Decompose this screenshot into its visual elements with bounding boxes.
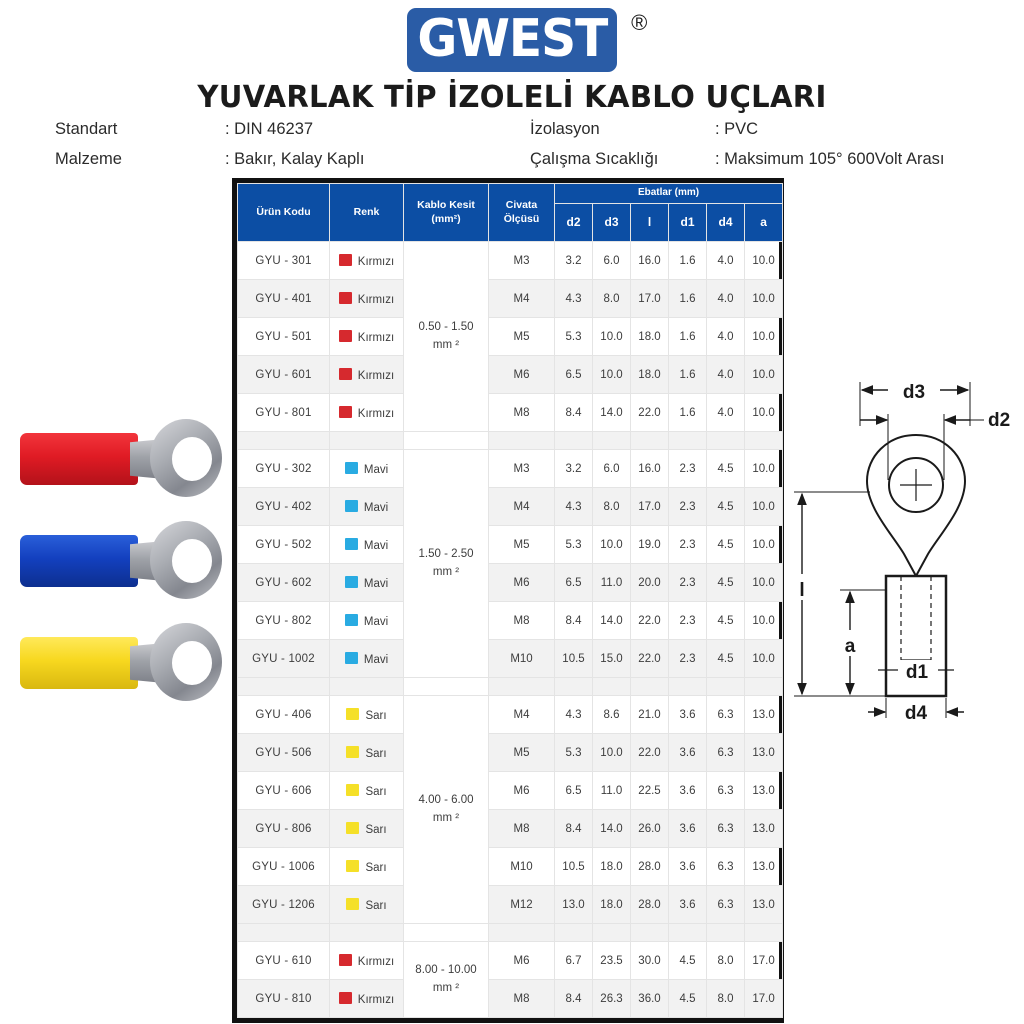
- cell-d3: 11.0: [593, 772, 631, 810]
- color-swatch-icon: [346, 860, 359, 872]
- cell-urun-kodu: GYU - 402: [238, 488, 330, 526]
- table-row[interactable]: GYU - 301Kırmızı0.50 - 1.50mm ²M33.26.01…: [238, 242, 783, 280]
- cell-d2: 10.5: [555, 640, 593, 678]
- insulation-sleeve: [20, 637, 138, 689]
- spec-label-standart: Standart: [55, 120, 225, 139]
- cell-d4: 8.0: [707, 942, 745, 980]
- cell-d2: 5.3: [555, 318, 593, 356]
- cell-renk: Sarı: [330, 886, 404, 924]
- cell-renk-label: Sarı: [365, 824, 386, 836]
- cell-d2: 6.7: [555, 942, 593, 980]
- cell-renk-label: Sarı: [365, 786, 386, 798]
- logo-box: GWEST ®: [407, 8, 618, 72]
- cell-renk: Sarı: [330, 696, 404, 734]
- column-header-d2: d2: [555, 204, 593, 242]
- cell-kablo-kesit: 8.00 - 10.00mm ²: [404, 942, 489, 1018]
- civata-line2: Ölçüsü: [504, 213, 540, 225]
- cell-renk: Mavi: [330, 602, 404, 640]
- color-swatch-icon: [346, 784, 359, 796]
- cell-urun-kodu: GYU - 506: [238, 734, 330, 772]
- spec-value-sicaklik: : Maksimum 105° 600Volt Arası: [715, 150, 1010, 169]
- table-row[interactable]: GYU - 806SarıM88.414.026.03.66.313.0: [238, 810, 783, 848]
- blue-ring-terminal: [12, 517, 227, 605]
- insulation-sleeve: [20, 535, 138, 587]
- stud-hole: [172, 641, 212, 685]
- cell-d4: 4.5: [707, 640, 745, 678]
- cell-urun-kodu: GYU - 610: [238, 942, 330, 980]
- cell-d4: 4.0: [707, 242, 745, 280]
- cell-renk: Sarı: [330, 848, 404, 886]
- cell-civata: M6: [489, 942, 555, 980]
- cell-urun-kodu: GYU - 301: [238, 242, 330, 280]
- cell-civata: M8: [489, 394, 555, 432]
- cell-d4: 4.5: [707, 450, 745, 488]
- cell-civata: M10: [489, 640, 555, 678]
- page-title: YUVARLAK TİP İZOLELİ KABLO UÇLARI: [15, 80, 1008, 115]
- cell-d2: 13.0: [555, 886, 593, 924]
- cell-d3: 6.0: [593, 242, 631, 280]
- cell-d2: 4.3: [555, 280, 593, 318]
- cell-civata: M8: [489, 810, 555, 848]
- color-swatch-icon: [339, 330, 352, 342]
- cell-a: 13.0: [745, 810, 783, 848]
- cell-d2: 8.4: [555, 394, 593, 432]
- cell-civata: M10: [489, 848, 555, 886]
- cell-d2: 10.5: [555, 848, 593, 886]
- cell-renk: Mavi: [330, 488, 404, 526]
- cell-renk-label: Mavi: [364, 654, 388, 666]
- cell-renk-label: Sarı: [365, 862, 386, 874]
- cell-renk-label: Mavi: [364, 578, 388, 590]
- spec-label-malzeme: Malzeme: [55, 150, 225, 169]
- cell-a: 10.0: [745, 488, 783, 526]
- cell-renk: Kırmızı: [330, 242, 404, 280]
- color-swatch-icon: [339, 992, 352, 1004]
- cell-d4: 6.3: [707, 696, 745, 734]
- cell-d2: 4.3: [555, 488, 593, 526]
- cell-l: 30.0: [631, 942, 669, 980]
- group-spacer-row: [238, 924, 783, 942]
- cell-d4: 6.3: [707, 886, 745, 924]
- cell-d1: 3.6: [669, 886, 707, 924]
- cell-d3: 14.0: [593, 602, 631, 640]
- cell-urun-kodu: GYU - 502: [238, 526, 330, 564]
- cell-a: 10.0: [745, 526, 783, 564]
- cell-d3: 10.0: [593, 318, 631, 356]
- cell-renk: Sarı: [330, 772, 404, 810]
- spec-label-izolasyon: İzolasyon: [530, 120, 715, 139]
- cell-a: 10.0: [745, 280, 783, 318]
- cell-d1: 4.5: [669, 980, 707, 1018]
- cell-l: 28.0: [631, 886, 669, 924]
- cell-renk: Kırmızı: [330, 280, 404, 318]
- cell-d3: 8.6: [593, 696, 631, 734]
- spec-label-sicaklik: Çalışma Sıcaklığı: [530, 150, 715, 169]
- cell-renk-label: Kırmızı: [358, 294, 394, 306]
- cell-d3: 10.0: [593, 356, 631, 394]
- color-swatch-icon: [345, 576, 358, 588]
- cell-d3: 18.0: [593, 848, 631, 886]
- color-swatch-icon: [345, 538, 358, 550]
- cell-urun-kodu: GYU - 401: [238, 280, 330, 318]
- cell-renk-label: Kırmızı: [358, 370, 394, 382]
- cell-d1: 2.3: [669, 640, 707, 678]
- cell-a: 17.0: [745, 942, 783, 980]
- cell-renk-label: Sarı: [365, 748, 386, 760]
- column-header-d4: d4: [707, 204, 745, 242]
- cell-a: 10.0: [745, 242, 783, 280]
- cell-civata: M3: [489, 242, 555, 280]
- cell-a: 10.0: [745, 602, 783, 640]
- column-header-civata: Civata Ölçüsü: [489, 184, 555, 242]
- cell-kablo-kesit: 4.00 - 6.00mm ²: [404, 696, 489, 924]
- cell-renk: Kırmızı: [330, 356, 404, 394]
- cell-a: 10.0: [745, 318, 783, 356]
- cell-renk: Mavi: [330, 450, 404, 488]
- logo-wordmark: GWEST: [417, 11, 607, 67]
- spec-value-izolasyon: : PVC: [715, 120, 1010, 139]
- cell-d1: 3.6: [669, 848, 707, 886]
- cell-urun-kodu: GYU - 810: [238, 980, 330, 1018]
- specification-table: Ürün Kodu Renk Kablo Kesit (mm²) Civata …: [232, 178, 784, 1023]
- cell-d1: 3.6: [669, 696, 707, 734]
- cell-renk-label: Sarı: [365, 710, 386, 722]
- cell-l: 17.0: [631, 488, 669, 526]
- table-row[interactable]: GYU - 606SarıM66.511.022.53.66.313.0: [238, 772, 783, 810]
- table-row[interactable]: GYU - 610Kırmızı8.00 - 10.00mm ²M66.723.…: [238, 942, 783, 980]
- cell-d2: 8.4: [555, 980, 593, 1018]
- technical-drawing: d3 d2 l a d1: [788, 368, 1024, 730]
- cell-d3: 23.5: [593, 942, 631, 980]
- cell-a: 17.0: [745, 980, 783, 1018]
- cell-kablo-kesit: 1.50 - 2.50mm ²: [404, 450, 489, 678]
- cell-civata: M5: [489, 734, 555, 772]
- color-swatch-icon: [345, 652, 358, 664]
- cell-l: 22.5: [631, 772, 669, 810]
- spec-value-malzeme: : Bakır, Kalay Kaplı: [225, 150, 530, 169]
- brand-logo: GWEST ®: [0, 8, 1024, 72]
- cell-a: 10.0: [745, 394, 783, 432]
- cell-civata: M3: [489, 450, 555, 488]
- cell-urun-kodu: GYU - 501: [238, 318, 330, 356]
- cell-l: 17.0: [631, 280, 669, 318]
- color-swatch-icon: [345, 614, 358, 626]
- color-swatch-icon: [339, 368, 352, 380]
- cell-d4: 4.0: [707, 318, 745, 356]
- table-row[interactable]: GYU - 1006SarıM1010.518.028.03.66.313.0: [238, 848, 783, 886]
- cell-l: 18.0: [631, 356, 669, 394]
- cell-urun-kodu: GYU - 302: [238, 450, 330, 488]
- cell-d2: 6.5: [555, 564, 593, 602]
- cell-d4: 4.0: [707, 280, 745, 318]
- cell-d4: 6.3: [707, 810, 745, 848]
- cell-d1: 3.6: [669, 810, 707, 848]
- cell-a: 13.0: [745, 772, 783, 810]
- color-swatch-icon: [346, 822, 359, 834]
- cell-d2: 3.2: [555, 450, 593, 488]
- cell-renk-label: Mavi: [364, 616, 388, 628]
- table-row[interactable]: GYU - 406Sarı4.00 - 6.00mm ²M44.38.621.0…: [238, 696, 783, 734]
- column-header-renk: Renk: [330, 184, 404, 242]
- cell-l: 36.0: [631, 980, 669, 1018]
- group-spacer-row: [238, 678, 783, 696]
- product-photos: [12, 415, 227, 721]
- cell-d2: 3.2: [555, 242, 593, 280]
- cell-d1: 2.3: [669, 602, 707, 640]
- cell-urun-kodu: GYU - 1006: [238, 848, 330, 886]
- color-swatch-icon: [346, 898, 359, 910]
- cell-d4: 4.0: [707, 356, 745, 394]
- color-swatch-icon: [339, 292, 352, 304]
- column-header-a: a: [745, 204, 783, 242]
- cell-renk-label: Kırmızı: [358, 256, 394, 268]
- cell-urun-kodu: GYU - 806: [238, 810, 330, 848]
- cell-d4: 4.5: [707, 602, 745, 640]
- cell-d2: 8.4: [555, 810, 593, 848]
- cell-d2: 5.3: [555, 734, 593, 772]
- cell-d3: 8.0: [593, 488, 631, 526]
- cell-d1: 3.6: [669, 772, 707, 810]
- cell-d4: 4.5: [707, 526, 745, 564]
- cell-d2: 4.3: [555, 696, 593, 734]
- table-row[interactable]: GYU - 402MaviM44.38.017.02.34.510.0: [238, 488, 783, 526]
- cell-renk-label: Mavi: [364, 540, 388, 552]
- dim-label-d2: d2: [988, 410, 1010, 431]
- table-header: Ürün Kodu Renk Kablo Kesit (mm²) Civata …: [238, 184, 783, 242]
- column-header-ebatlar: Ebatlar (mm): [555, 184, 783, 204]
- cell-renk: Kırmızı: [330, 318, 404, 356]
- cell-d1: 2.3: [669, 450, 707, 488]
- cell-kablo-kesit: 0.50 - 1.50mm ²: [404, 242, 489, 432]
- cell-civata: M4: [489, 488, 555, 526]
- cell-l: 22.0: [631, 734, 669, 772]
- cell-renk-label: Kırmızı: [358, 332, 394, 344]
- cell-renk: Kırmızı: [330, 980, 404, 1018]
- cell-d4: 8.0: [707, 980, 745, 1018]
- cell-urun-kodu: GYU - 1002: [238, 640, 330, 678]
- cell-l: 28.0: [631, 848, 669, 886]
- table-body: GYU - 301Kırmızı0.50 - 1.50mm ²M33.26.01…: [238, 242, 783, 1018]
- table-row[interactable]: GYU - 602MaviM66.511.020.02.34.510.0: [238, 564, 783, 602]
- table-row[interactable]: GYU - 302Mavi1.50 - 2.50mm ²M33.26.016.0…: [238, 450, 783, 488]
- cell-a: 13.0: [745, 734, 783, 772]
- cell-renk: Kırmızı: [330, 942, 404, 980]
- cell-d4: 6.3: [707, 734, 745, 772]
- color-swatch-icon: [339, 406, 352, 418]
- cell-l: 16.0: [631, 242, 669, 280]
- cell-urun-kodu: GYU - 801: [238, 394, 330, 432]
- cell-a: 13.0: [745, 886, 783, 924]
- cell-civata: M4: [489, 696, 555, 734]
- table-row[interactable]: GYU - 401KırmızıM44.38.017.01.64.010.0: [238, 280, 783, 318]
- cell-renk: Sarı: [330, 734, 404, 772]
- cell-d2: 5.3: [555, 526, 593, 564]
- cell-d1: 1.6: [669, 356, 707, 394]
- color-swatch-icon: [346, 708, 359, 720]
- cell-d4: 6.3: [707, 848, 745, 886]
- cell-civata: M5: [489, 318, 555, 356]
- cell-l: 18.0: [631, 318, 669, 356]
- cell-urun-kodu: GYU - 406: [238, 696, 330, 734]
- cell-renk-label: Sarı: [365, 900, 386, 912]
- cell-urun-kodu: GYU - 606: [238, 772, 330, 810]
- cell-l: 19.0: [631, 526, 669, 564]
- kablo-kesit-line1: Kablo Kesit: [417, 199, 475, 211]
- group-spacer-row: [238, 432, 783, 450]
- cell-civata: M8: [489, 602, 555, 640]
- cell-renk: Mavi: [330, 564, 404, 602]
- table-row[interactable]: GYU - 810KırmızıM88.426.336.04.58.017.0: [238, 980, 783, 1018]
- cell-a: 13.0: [745, 848, 783, 886]
- cell-d1: 1.6: [669, 394, 707, 432]
- yellow-ring-terminal: [12, 619, 227, 707]
- cell-d3: 14.0: [593, 394, 631, 432]
- cell-a: 10.0: [745, 564, 783, 602]
- cell-civata: M8: [489, 980, 555, 1018]
- cell-a: 10.0: [745, 640, 783, 678]
- cell-civata: M4: [489, 280, 555, 318]
- cell-d3: 10.0: [593, 526, 631, 564]
- cell-d3: 10.0: [593, 734, 631, 772]
- table-row[interactable]: GYU - 801KırmızıM88.414.022.01.64.010.0: [238, 394, 783, 432]
- table-row[interactable]: GYU - 502MaviM55.310.019.02.34.510.0: [238, 526, 783, 564]
- column-header-urun-kodu: Ürün Kodu: [238, 184, 330, 242]
- cell-d1: 3.6: [669, 734, 707, 772]
- spec-row: Malzeme : Bakır, Kalay Kaplı Çalışma Sıc…: [55, 150, 1010, 180]
- cell-civata: M6: [489, 356, 555, 394]
- cell-d1: 1.6: [669, 280, 707, 318]
- cell-d2: 8.4: [555, 602, 593, 640]
- cell-d3: 8.0: [593, 280, 631, 318]
- cell-d1: 1.6: [669, 318, 707, 356]
- cell-d3: 18.0: [593, 886, 631, 924]
- cell-d1: 2.3: [669, 526, 707, 564]
- dim-label-d3: d3: [903, 382, 925, 403]
- table-row[interactable]: GYU - 1002MaviM1010.515.022.02.34.510.0: [238, 640, 783, 678]
- cell-l: 22.0: [631, 394, 669, 432]
- table-row[interactable]: GYU - 1206SarıM1213.018.028.03.66.313.0: [238, 886, 783, 924]
- dim-label-a: a: [845, 636, 856, 657]
- table-row[interactable]: GYU - 501KırmızıM55.310.018.01.64.010.0: [238, 318, 783, 356]
- cell-d3: 26.3: [593, 980, 631, 1018]
- cell-renk-label: Mavi: [364, 464, 388, 476]
- cell-a: 13.0: [745, 696, 783, 734]
- cell-d3: 6.0: [593, 450, 631, 488]
- cell-civata: M6: [489, 564, 555, 602]
- dim-label-d4: d4: [905, 703, 928, 724]
- cell-a: 10.0: [745, 356, 783, 394]
- column-header-kablo-kesit: Kablo Kesit (mm²): [404, 184, 489, 242]
- cell-renk-label: Kırmızı: [358, 994, 394, 1006]
- table-row[interactable]: GYU - 601KırmızıM66.510.018.01.64.010.0: [238, 356, 783, 394]
- column-header-d1: d1: [669, 204, 707, 242]
- table-row[interactable]: GYU - 506SarıM55.310.022.03.66.313.0: [238, 734, 783, 772]
- cell-renk-label: Kırmızı: [358, 956, 394, 968]
- cell-d1: 4.5: [669, 942, 707, 980]
- cell-urun-kodu: GYU - 1206: [238, 886, 330, 924]
- cell-a: 10.0: [745, 450, 783, 488]
- red-ring-terminal: [12, 415, 227, 503]
- dim-label-d1: d1: [906, 662, 929, 683]
- spec-row: Standart : DIN 46237 İzolasyon : PVC: [55, 120, 1010, 150]
- cell-l: 22.0: [631, 602, 669, 640]
- color-swatch-icon: [346, 746, 359, 758]
- color-swatch-icon: [339, 254, 352, 266]
- cell-renk-label: Kırmızı: [358, 408, 394, 420]
- color-swatch-icon: [345, 500, 358, 512]
- cell-l: 26.0: [631, 810, 669, 848]
- registered-trademark-icon: ®: [631, 10, 647, 36]
- cell-renk: Sarı: [330, 810, 404, 848]
- cell-l: 21.0: [631, 696, 669, 734]
- product-spec-sheet: GWEST ® YUVARLAK TİP İZOLELİ KABLO UÇLAR…: [0, 0, 1024, 1024]
- cell-d3: 11.0: [593, 564, 631, 602]
- spec-value-standart: : DIN 46237: [225, 120, 530, 139]
- dim-label-l: l: [799, 580, 804, 601]
- cell-d1: 1.6: [669, 242, 707, 280]
- color-swatch-icon: [339, 954, 352, 966]
- cell-d2: 6.5: [555, 356, 593, 394]
- stud-hole: [172, 539, 212, 583]
- cell-l: 22.0: [631, 640, 669, 678]
- cell-d4: 4.5: [707, 564, 745, 602]
- cell-renk: Mavi: [330, 526, 404, 564]
- cell-urun-kodu: GYU - 601: [238, 356, 330, 394]
- insulation-sleeve: [20, 433, 138, 485]
- cell-civata: M5: [489, 526, 555, 564]
- cell-civata: M12: [489, 886, 555, 924]
- cell-l: 20.0: [631, 564, 669, 602]
- cell-d4: 4.5: [707, 488, 745, 526]
- cell-d2: 6.5: [555, 772, 593, 810]
- cell-d1: 2.3: [669, 488, 707, 526]
- table-row[interactable]: GYU - 802MaviM88.414.022.02.34.510.0: [238, 602, 783, 640]
- color-swatch-icon: [345, 462, 358, 474]
- cell-renk: Mavi: [330, 640, 404, 678]
- spec-summary: Standart : DIN 46237 İzolasyon : PVC Mal…: [55, 120, 1010, 180]
- cell-civata: M6: [489, 772, 555, 810]
- cell-d3: 14.0: [593, 810, 631, 848]
- cell-renk-label: Mavi: [364, 502, 388, 514]
- cell-renk: Kırmızı: [330, 394, 404, 432]
- stud-hole: [172, 437, 212, 481]
- cell-urun-kodu: GYU - 602: [238, 564, 330, 602]
- cell-d1: 2.3: [669, 564, 707, 602]
- cell-d4: 6.3: [707, 772, 745, 810]
- kablo-kesit-line2: (mm²): [431, 213, 460, 225]
- column-header-d3: d3: [593, 204, 631, 242]
- cell-l: 16.0: [631, 450, 669, 488]
- civata-line1: Civata: [506, 199, 538, 211]
- cell-d4: 4.0: [707, 394, 745, 432]
- column-header-l: l: [631, 204, 669, 242]
- cell-d3: 15.0: [593, 640, 631, 678]
- cell-urun-kodu: GYU - 802: [238, 602, 330, 640]
